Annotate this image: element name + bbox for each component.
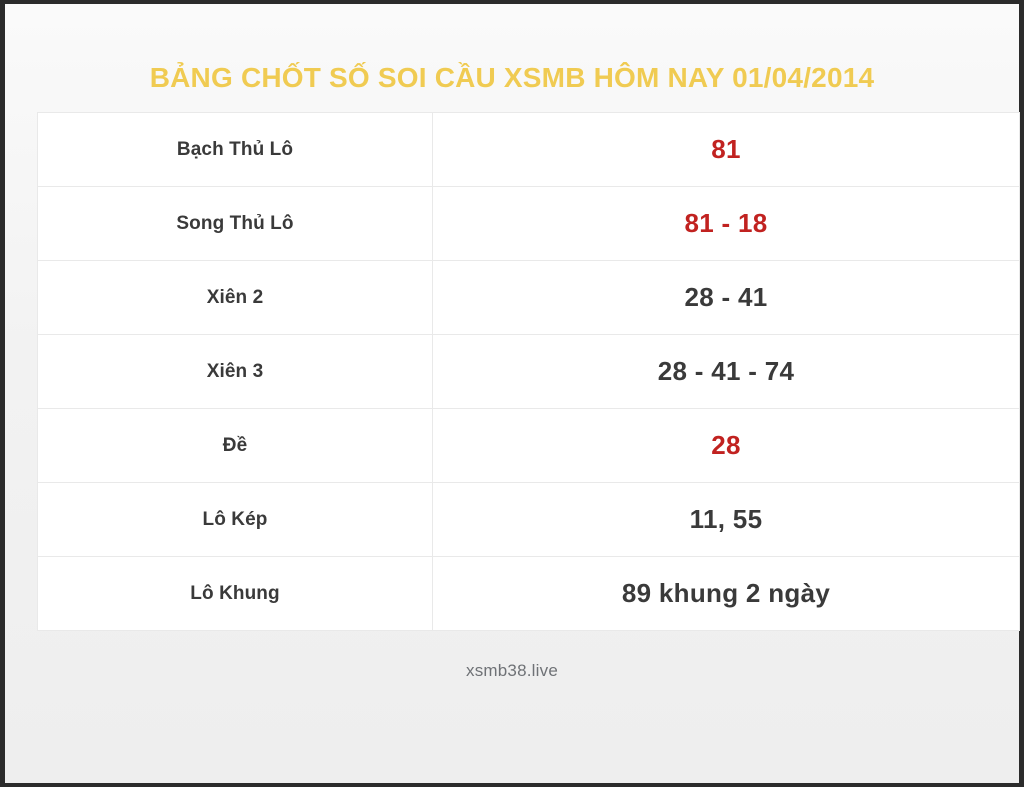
table-row: Xiên 2 28 - 41 bbox=[38, 261, 1020, 335]
table-row: Xiên 3 28 - 41 - 74 bbox=[38, 335, 1020, 409]
table-row: Lô Khung 89 khung 2 ngày bbox=[38, 557, 1020, 631]
page-title: BẢNG CHỐT SỐ SOI CẦU XSMB HÔM NAY 01/04/… bbox=[150, 62, 875, 94]
row-value: 81 bbox=[433, 113, 1020, 187]
row-value: 11, 55 bbox=[433, 483, 1020, 557]
table-row: Lô Kép 11, 55 bbox=[38, 483, 1020, 557]
soicau-table-container: Bạch Thủ Lô 81 Song Thủ Lô 81 - 18 Xiên … bbox=[37, 112, 987, 631]
table-row: Song Thủ Lô 81 - 18 bbox=[38, 187, 1020, 261]
title-bar: BẢNG CHỐT SỐ SOI CẦU XSMB HÔM NAY 01/04/… bbox=[5, 4, 1019, 112]
row-label: Đề bbox=[38, 409, 433, 483]
row-label: Song Thủ Lô bbox=[38, 187, 433, 261]
row-label: Bạch Thủ Lô bbox=[38, 113, 433, 187]
table-row: Đề 28 bbox=[38, 409, 1020, 483]
soicau-table: Bạch Thủ Lô 81 Song Thủ Lô 81 - 18 Xiên … bbox=[37, 112, 1020, 631]
row-label: Lô Kép bbox=[38, 483, 433, 557]
row-value: 28 bbox=[433, 409, 1020, 483]
row-value: 28 - 41 bbox=[433, 261, 1020, 335]
screenshot-frame: BẢNG CHỐT SỐ SOI CẦU XSMB HÔM NAY 01/04/… bbox=[0, 0, 1024, 787]
page-body: BẢNG CHỐT SỐ SOI CẦU XSMB HÔM NAY 01/04/… bbox=[5, 4, 1019, 783]
footer: xsmb38.live bbox=[5, 631, 1019, 681]
row-label: Xiên 3 bbox=[38, 335, 433, 409]
row-label: Lô Khung bbox=[38, 557, 433, 631]
soicau-table-body: Bạch Thủ Lô 81 Song Thủ Lô 81 - 18 Xiên … bbox=[38, 113, 1020, 631]
row-label: Xiên 2 bbox=[38, 261, 433, 335]
footer-site-label: xsmb38.live bbox=[466, 661, 558, 680]
table-row: Bạch Thủ Lô 81 bbox=[38, 113, 1020, 187]
row-value: 81 - 18 bbox=[433, 187, 1020, 261]
row-value: 89 khung 2 ngày bbox=[433, 557, 1020, 631]
row-value: 28 - 41 - 74 bbox=[433, 335, 1020, 409]
